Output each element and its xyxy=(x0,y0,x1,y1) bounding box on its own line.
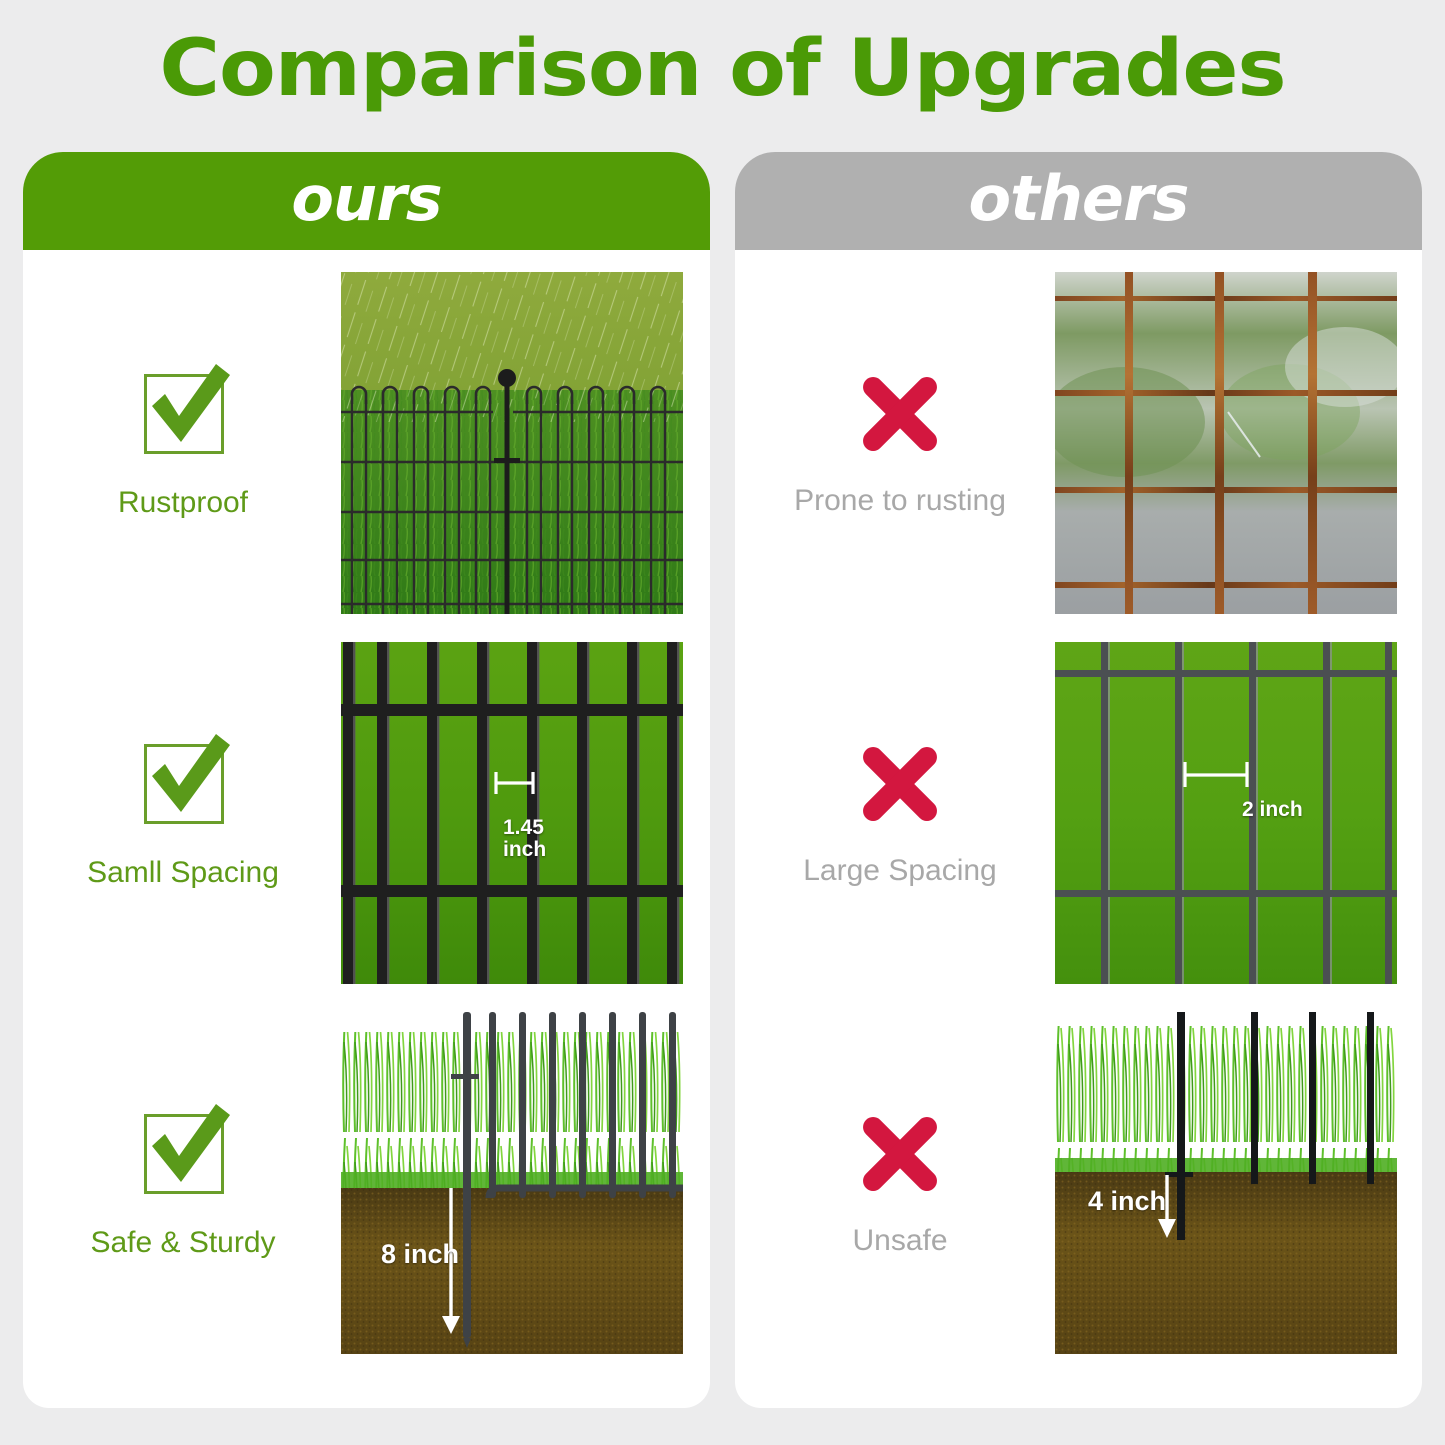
column-ours: ours Rustproof xyxy=(23,152,710,1410)
row-ours-rustproof: Rustproof xyxy=(23,258,710,626)
dimension-annotation: 8 inch xyxy=(381,1240,459,1268)
panel-others: Prone to rusting xyxy=(735,250,1422,1408)
photo-shallow-stake-in-soil: 4 inch xyxy=(1055,1012,1397,1354)
row-others-rusting: Prone to rusting xyxy=(735,258,1422,626)
feature-label: Large Spacing xyxy=(803,854,996,888)
rustproof-fence-in-rain-photo xyxy=(341,272,683,614)
tab-ours-bar[interactable]: ours xyxy=(23,152,710,250)
panel-ours: Rustproof xyxy=(23,250,710,1408)
dimension-unit: inch xyxy=(503,838,546,861)
feature-ours-sturdy: Safe & Sturdy xyxy=(23,998,343,1366)
feature-label: Samll Spacing xyxy=(87,856,279,890)
wide-bar-spacing-photo xyxy=(1055,642,1397,984)
dimension-value: 2 inch xyxy=(1242,798,1303,821)
tab-others-label: others xyxy=(969,168,1189,230)
feature-ours-spacing: Samll Spacing xyxy=(23,628,343,996)
feature-label: Rustproof xyxy=(118,486,248,520)
x-icon xyxy=(852,736,948,832)
photo-deep-stake-in-soil: 8 inch xyxy=(341,1012,683,1354)
check-mark-glyph xyxy=(132,728,234,828)
dimension-annotation: 4 inch xyxy=(1088,1187,1166,1215)
deep-stake-in-soil-photo xyxy=(341,1012,683,1354)
check-mark-glyph xyxy=(132,1098,234,1198)
photo-rusty-wire-grid xyxy=(1055,272,1397,614)
tab-others-bar[interactable]: others xyxy=(735,152,1422,250)
column-others: others Prone to rusting xyxy=(735,152,1422,1410)
page-title: Comparison of Upgrades xyxy=(0,26,1445,112)
row-ours-spacing: Samll Spacing xyxy=(23,628,710,996)
dimension-annotation: 2 inch xyxy=(1242,799,1303,821)
feature-label: Safe & Sturdy xyxy=(90,1226,275,1260)
x-icon xyxy=(852,1106,948,1202)
row-others-spacing: Large Spacing xyxy=(735,628,1422,996)
rusty-wire-grid-photo xyxy=(1055,272,1397,614)
photo-wide-bar-spacing: 2 inch xyxy=(1055,642,1397,984)
narrow-bar-spacing-photo xyxy=(341,642,683,984)
feature-label: Unsafe xyxy=(852,1224,947,1258)
check-icon xyxy=(132,364,234,464)
check-icon xyxy=(132,1104,234,1204)
feature-ours-rustproof: Rustproof xyxy=(23,258,343,626)
dimension-value: 4 inch xyxy=(1088,1186,1166,1216)
feature-label: Prone to rusting xyxy=(794,484,1006,518)
shallow-stake-in-soil-photo xyxy=(1055,1012,1397,1354)
feature-others-spacing: Large Spacing xyxy=(735,628,1065,996)
check-icon xyxy=(132,734,234,834)
feature-others-rusting: Prone to rusting xyxy=(735,258,1065,626)
dimension-value: 1.45 xyxy=(503,816,544,839)
photo-narrow-bar-spacing: 1.45 inch xyxy=(341,642,683,984)
tab-others[interactable]: others xyxy=(735,152,1422,250)
dimension-value: 8 inch xyxy=(381,1239,459,1269)
photo-rustproof-fence-in-rain xyxy=(341,272,683,614)
row-others-unsafe: Unsafe xyxy=(735,998,1422,1366)
feature-others-unsafe: Unsafe xyxy=(735,998,1065,1366)
row-ours-sturdy: Safe & Sturdy xyxy=(23,998,710,1366)
dimension-annotation: 1.45 inch xyxy=(503,817,546,861)
tab-ours[interactable]: ours xyxy=(23,152,710,250)
tab-ours-label: ours xyxy=(291,168,441,230)
x-icon xyxy=(852,366,948,462)
check-mark-glyph xyxy=(132,358,234,458)
